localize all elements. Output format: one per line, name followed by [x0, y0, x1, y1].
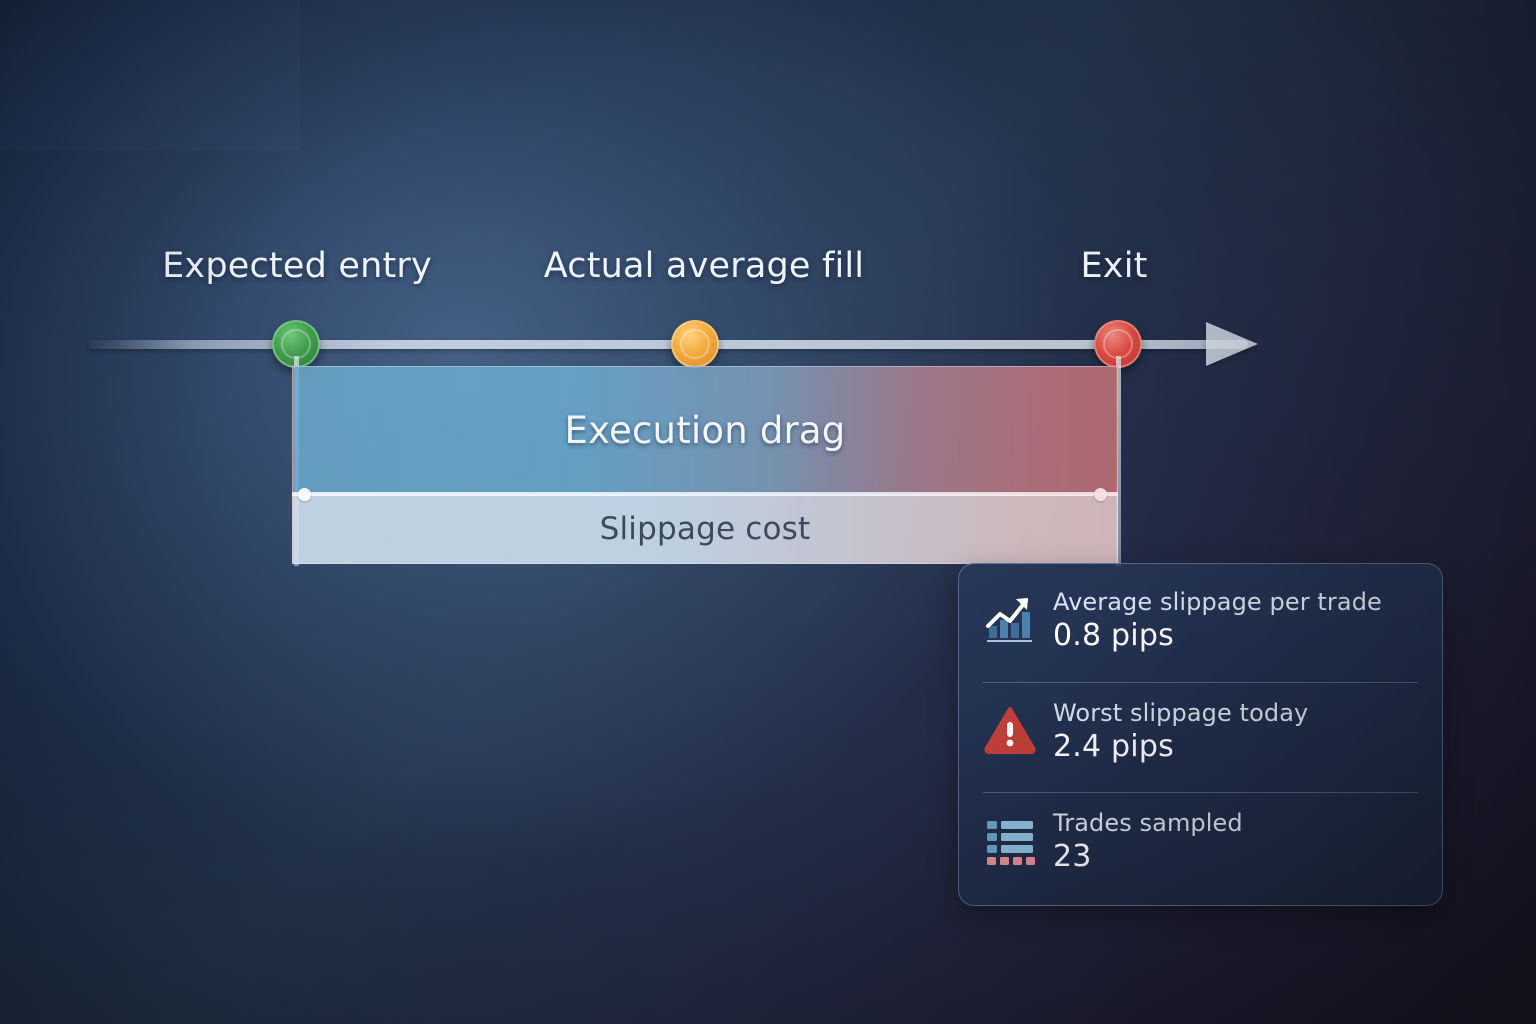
trend-chart-icon [983, 592, 1037, 646]
stats-panel: Average slippage per trade 0.8 pips Wors… [958, 563, 1443, 906]
diagram-canvas: Expected entry Actual average fill Exit … [0, 0, 1536, 1024]
stats-value: 23 [1053, 839, 1243, 874]
band-label-execution-drag: Execution drag [565, 409, 846, 452]
band-execution-drag: Execution drag [292, 366, 1118, 494]
stats-label: Trades sampled [1053, 809, 1243, 837]
warning-triangle-icon [983, 703, 1037, 757]
stats-value: 0.8 pips [1053, 618, 1382, 653]
stats-row-trades-sampled[interactable]: Trades sampled 23 [983, 792, 1418, 902]
stats-value: 2.4 pips [1053, 729, 1308, 764]
band-divider-dot-right [1094, 488, 1107, 501]
stats-label: Worst slippage today [1053, 699, 1308, 727]
list-rows-icon [983, 813, 1037, 867]
band-divider [292, 492, 1118, 496]
node-label-exit: Exit [1080, 246, 1147, 286]
band-label-slippage-cost: Slippage cost [600, 511, 811, 547]
stats-row-average-slippage[interactable]: Average slippage per trade 0.8 pips [983, 586, 1418, 682]
circle-marker-orange-icon[interactable] [671, 320, 719, 368]
background-noise-texture [0, 0, 300, 150]
arrow-right-icon [1206, 322, 1258, 366]
stats-row-worst-slippage[interactable]: Worst slippage today 2.4 pips [983, 682, 1418, 792]
band-divider-dot-left [298, 488, 311, 501]
stats-label: Average slippage per trade [1053, 588, 1382, 616]
band-slippage-cost: Slippage cost [292, 494, 1118, 564]
node-label-expected-entry: Expected entry [162, 246, 432, 286]
timeline-axis-line [88, 340, 1248, 349]
node-label-actual-average-fill: Actual average fill [544, 246, 864, 286]
